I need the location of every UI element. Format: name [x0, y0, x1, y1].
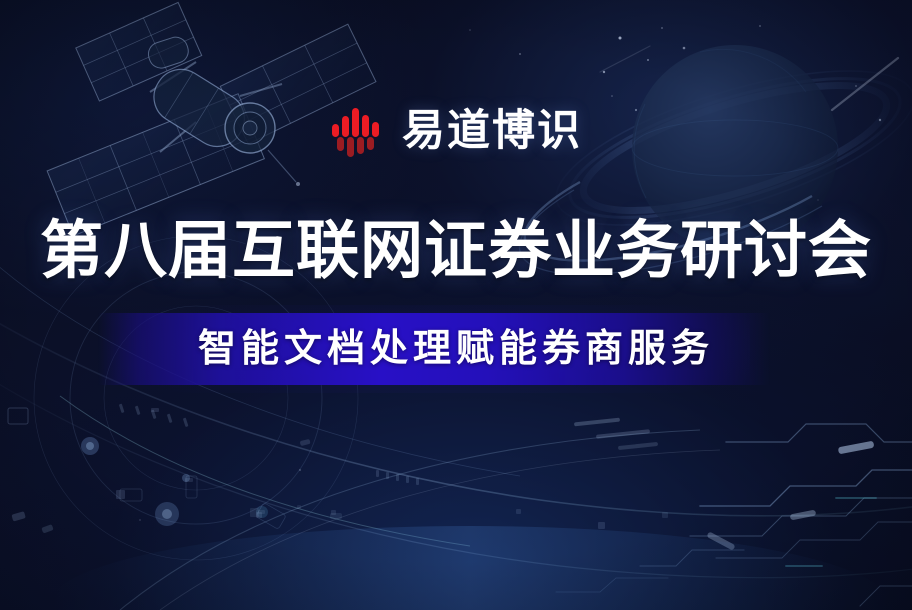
conference-banner: 易道博识 第八届互联网证券业务研讨会 智能文档处理赋能券商服务	[0, 0, 912, 610]
main-title: 第八届互联网证券业务研讨会	[0, 218, 912, 284]
horizon-glow	[50, 526, 890, 610]
data-chips	[8, 404, 668, 534]
equalizer-bars-logo-icon	[330, 103, 386, 159]
background-decorations	[0, 0, 912, 610]
brand-wordmark: 易道博识	[402, 110, 582, 153]
subtitle: 智能文档处理赋能券商服务	[0, 325, 912, 373]
brand-lockup: 易道博识	[0, 98, 912, 164]
